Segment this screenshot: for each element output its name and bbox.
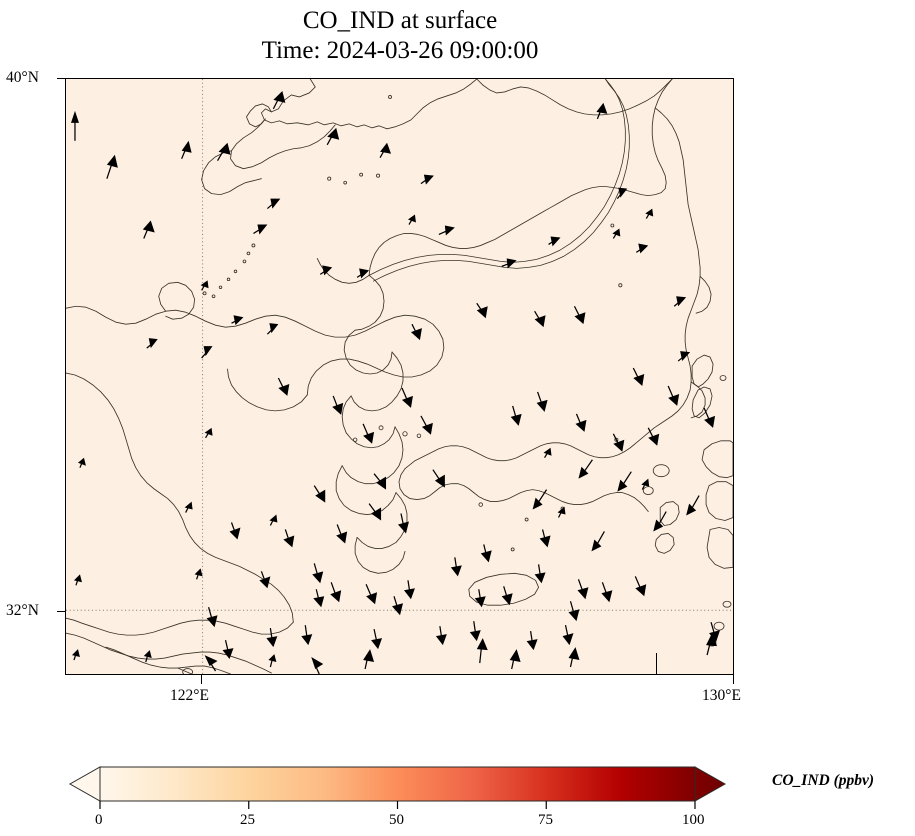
colorbar-tick-label-75: 75: [538, 812, 553, 829]
coastlines: [66, 79, 733, 674]
map-svg: [66, 79, 733, 674]
colorbar-axis-label: CO_IND (ppbv): [772, 772, 874, 790]
colorbar-extend-max: [695, 767, 725, 801]
figure-title: CO_IND at surface Time: 2024-03-26 09:00…: [0, 6, 800, 65]
map-axes: [65, 78, 734, 675]
colorbar-tick-marks: [100, 801, 695, 809]
ytick-label-32n: 32°N: [6, 602, 39, 620]
tick-mark-lon-130: [733, 675, 734, 684]
tick-mark-lon-inner: [656, 653, 657, 675]
colorbar-tick-label-100: 100: [682, 812, 705, 829]
title-line-time: Time: 2024-03-26 09:00:00: [0, 36, 800, 66]
xtick-label-122e: 122°E: [170, 687, 209, 705]
colorbar-extend-min: [70, 767, 100, 801]
wind-quiver-layer: [71, 91, 720, 674]
colorbar-gradient: [100, 767, 695, 801]
figure-canvas: CO_IND at surface Time: 2024-03-26 09:00…: [0, 0, 915, 836]
colorbar-tick-label-50: 50: [389, 812, 404, 829]
title-line-variable: CO_IND at surface: [0, 6, 800, 36]
tick-mark-lat-40: [57, 78, 66, 79]
ytick-label-40n: 40°N: [6, 69, 39, 87]
tick-mark-lon-122: [201, 675, 202, 684]
tick-mark-lat-32: [57, 611, 66, 612]
xtick-label-130e: 130°E: [702, 687, 741, 705]
colorbar: 0 25 50 75 100 CO_IND (ppbv): [0, 755, 915, 836]
colorbar-tick-label-0: 0: [95, 812, 103, 829]
colorbar-tick-label-25: 25: [240, 812, 255, 829]
